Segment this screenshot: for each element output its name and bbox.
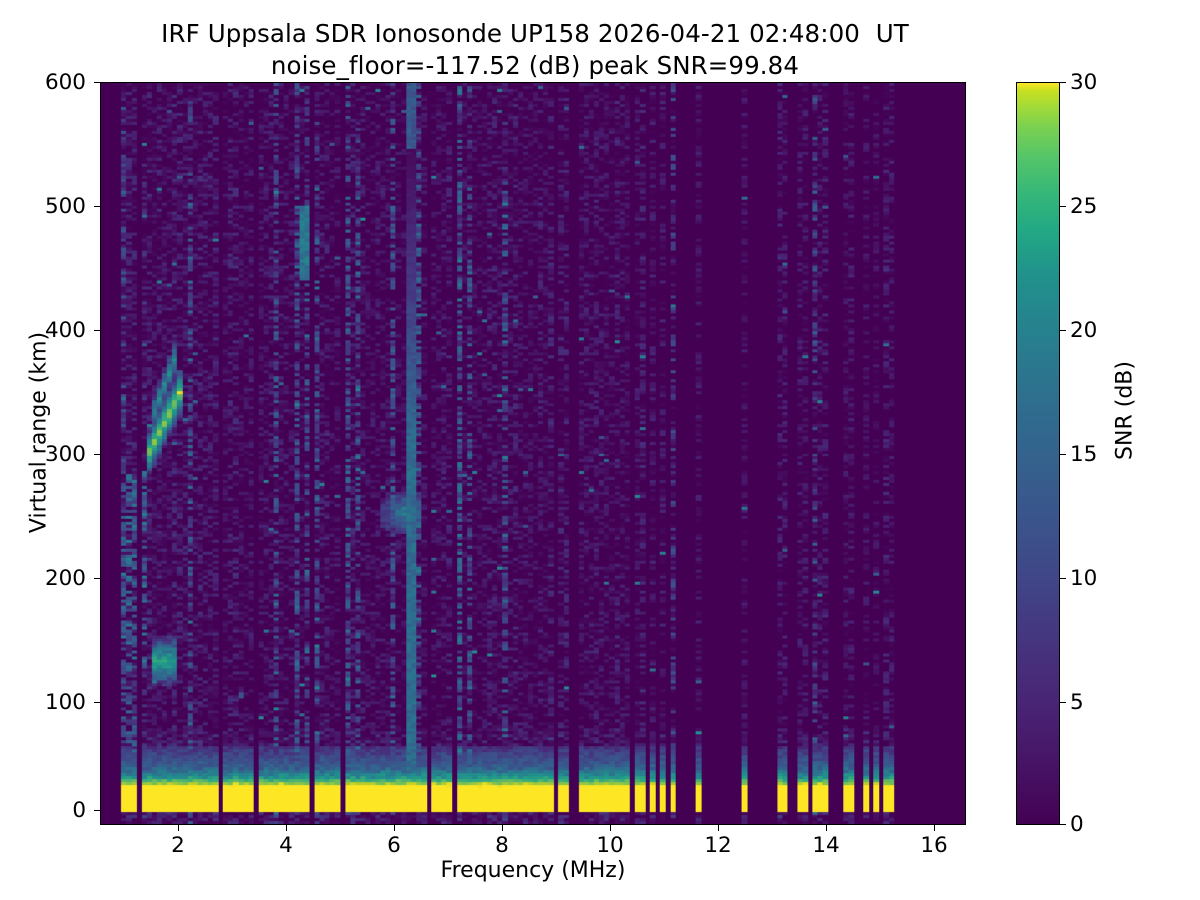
ytick-100 [94, 702, 100, 703]
ctick-15 [1060, 454, 1066, 455]
xticklabel-8: 8 [462, 833, 542, 858]
ctick-20 [1060, 330, 1066, 331]
yticklabel-0: 0 [0, 798, 86, 823]
yticklabel-100: 100 [0, 690, 86, 715]
colorbar-label: SNR (dB) [1113, 291, 1138, 531]
ytick-600 [94, 82, 100, 83]
xticklabel-2: 2 [138, 833, 218, 858]
ytick-300 [94, 454, 100, 455]
xticklabel-14: 14 [786, 833, 866, 858]
xticklabel-4: 4 [246, 833, 326, 858]
ytick-500 [94, 206, 100, 207]
cticklabel-0: 0 [1070, 812, 1084, 837]
cticklabel-5: 5 [1070, 690, 1084, 715]
x-axis-label: Frequency (MHz) [100, 858, 966, 883]
cticklabel-20: 20 [1070, 318, 1097, 343]
xtick-4 [286, 825, 287, 831]
xticklabel-10: 10 [570, 833, 650, 858]
figure-title-line-1: IRF Uppsala SDR Ionosonde UP158 2026-04-… [0, 18, 1070, 50]
xtick-16 [934, 825, 935, 831]
ionogram-figure: IRF Uppsala SDR Ionosonde UP158 2026-04-… [0, 0, 1200, 900]
snr-colorbar [1016, 82, 1060, 825]
xtick-12 [718, 825, 719, 831]
y-axis-label: Virtual range (km) [27, 253, 52, 613]
yticklabel-500: 500 [0, 194, 86, 219]
figure-title: IRF Uppsala SDR Ionosonde UP158 2026-04-… [0, 18, 1070, 82]
ctick-25 [1060, 206, 1066, 207]
xtick-6 [394, 825, 395, 831]
ctick-0 [1060, 824, 1066, 825]
xticklabel-16: 16 [894, 833, 974, 858]
xticklabel-12: 12 [678, 833, 758, 858]
ionogram-plot-area[interactable] [100, 82, 966, 825]
xtick-10 [610, 825, 611, 831]
ytick-0 [94, 810, 100, 811]
xtick-14 [826, 825, 827, 831]
ctick-10 [1060, 578, 1066, 579]
ctick-30 [1060, 82, 1066, 83]
yticklabel-600: 600 [0, 70, 86, 95]
xticklabel-6: 6 [354, 833, 434, 858]
snr-heatmap-canvas [101, 83, 965, 824]
cticklabel-15: 15 [1070, 442, 1097, 467]
ytick-400 [94, 330, 100, 331]
cticklabel-25: 25 [1070, 194, 1097, 219]
ytick-200 [94, 578, 100, 579]
cticklabel-30: 30 [1070, 70, 1097, 95]
figure-title-line-2: noise_floor=-117.52 (dB) peak SNR=99.84 [0, 50, 1070, 82]
ctick-5 [1060, 702, 1066, 703]
xtick-8 [502, 825, 503, 831]
cticklabel-10: 10 [1070, 566, 1097, 591]
xtick-2 [178, 825, 179, 831]
